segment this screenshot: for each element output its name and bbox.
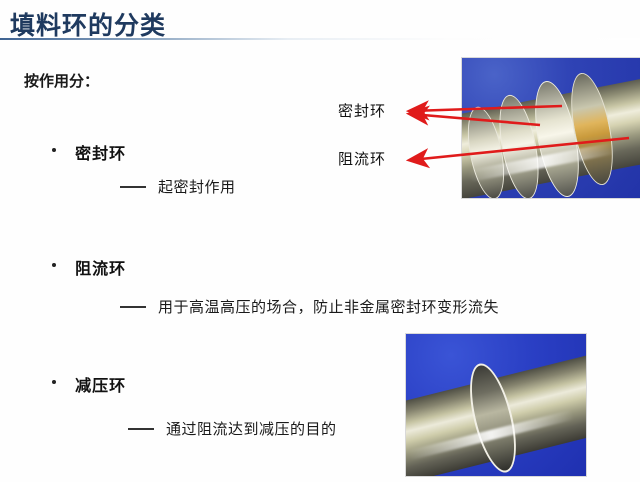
bullet-item-3: 减压环 — [52, 372, 126, 396]
bullet-dot-icon — [52, 380, 56, 384]
bullet-detail-3: 通过阻流达到减压的目的 — [128, 418, 337, 439]
bullet-detail-2: 用于高温高压的场合，防止非金属密封环变形流失 — [120, 296, 499, 317]
photo-shaft-with-rings — [461, 57, 640, 199]
em-dash-icon — [128, 428, 154, 430]
bullet-detail-text-3: 通过阻流达到减压的目的 — [166, 418, 337, 439]
bullet-dot-icon — [52, 263, 56, 267]
bullet-item-2: 阻流环 — [52, 255, 126, 279]
bullet-dot-icon — [52, 148, 56, 152]
photo-shaft-with-single-ring — [405, 333, 587, 477]
bullet-detail-1: 起密封作用 — [120, 176, 236, 197]
lead-in-text: 按作用分： — [24, 70, 99, 91]
em-dash-icon — [120, 306, 146, 308]
em-dash-icon — [120, 186, 146, 188]
title-divider — [0, 38, 640, 40]
bullet-item-1: 密封环 — [52, 140, 126, 164]
bullet-term-1: 密封环 — [75, 144, 126, 163]
callout-label-throttle-ring: 阻流环 — [338, 148, 386, 169]
bullet-detail-text-2: 用于高温高压的场合，防止非金属密封环变形流失 — [158, 296, 499, 317]
callout-label-seal-ring: 密封环 — [338, 100, 386, 121]
bullet-term-2: 阻流环 — [75, 259, 126, 278]
slide: 填料环的分类 按作用分： 密封环 起密封作用 阻流环 用于高温高压的场合，防止非… — [0, 0, 640, 482]
bullet-term-3: 减压环 — [75, 376, 126, 395]
bullet-detail-text-1: 起密封作用 — [158, 176, 236, 197]
page-title: 填料环的分类 — [10, 6, 166, 42]
